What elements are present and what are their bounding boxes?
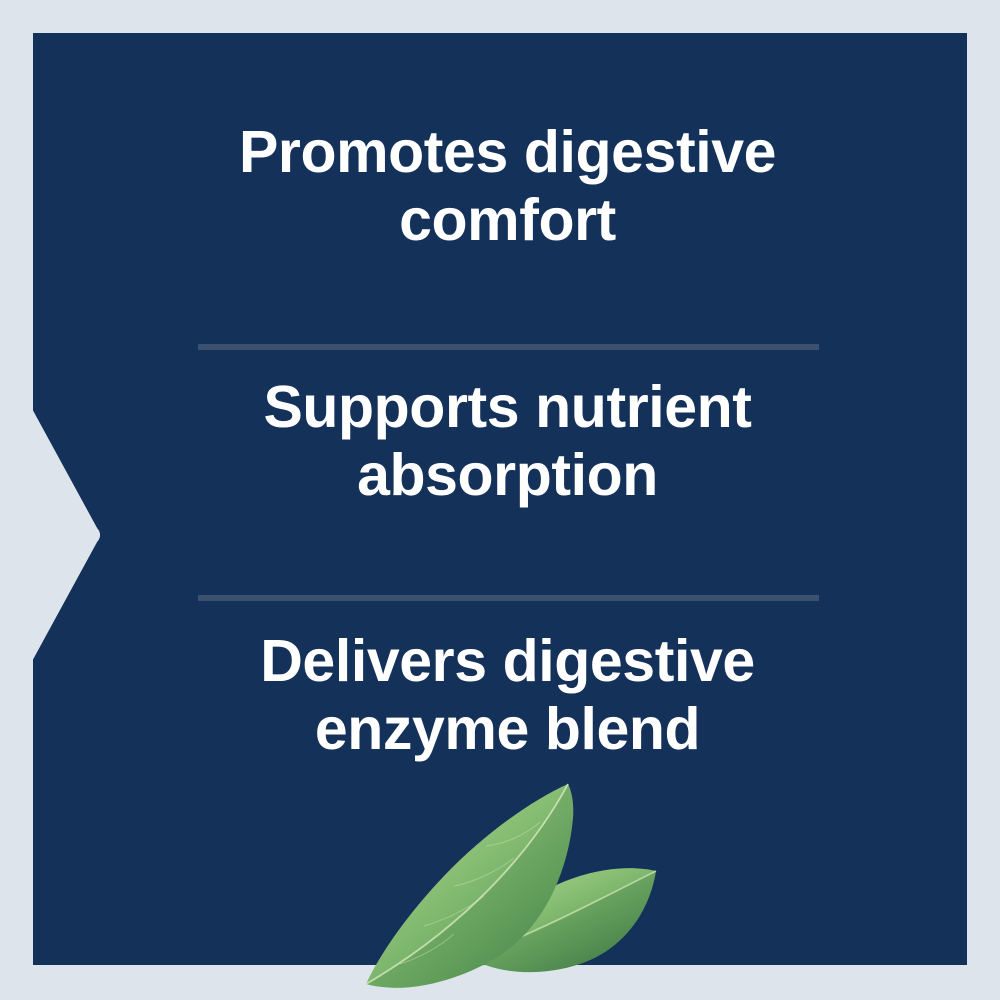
benefit-2-line-1: Supports nutrient bbox=[165, 373, 850, 441]
benefit-list: Promotes digestive comfort Supports nutr… bbox=[165, 33, 850, 833]
divider-2 bbox=[198, 595, 819, 601]
divider-1 bbox=[198, 344, 819, 350]
benefit-item-2: Supports nutrient absorption bbox=[165, 373, 850, 510]
benefit-2-line-2: absorption bbox=[165, 441, 850, 509]
benefit-1-line-2: comfort bbox=[165, 186, 850, 254]
chevron-right-icon bbox=[33, 363, 107, 703]
benefit-3-line-1: Delivers digestive bbox=[165, 627, 850, 695]
benefit-1-line-1: Promotes digestive bbox=[165, 118, 850, 186]
benefit-item-3: Delivers digestive enzyme blend bbox=[165, 627, 850, 764]
benefit-3-line-2: enzyme blend bbox=[165, 695, 850, 763]
benefits-panel-graphic: Promotes digestive comfort Supports nutr… bbox=[0, 0, 1000, 1000]
navy-panel: Promotes digestive comfort Supports nutr… bbox=[33, 33, 967, 965]
benefit-item-1: Promotes digestive comfort bbox=[165, 118, 850, 255]
